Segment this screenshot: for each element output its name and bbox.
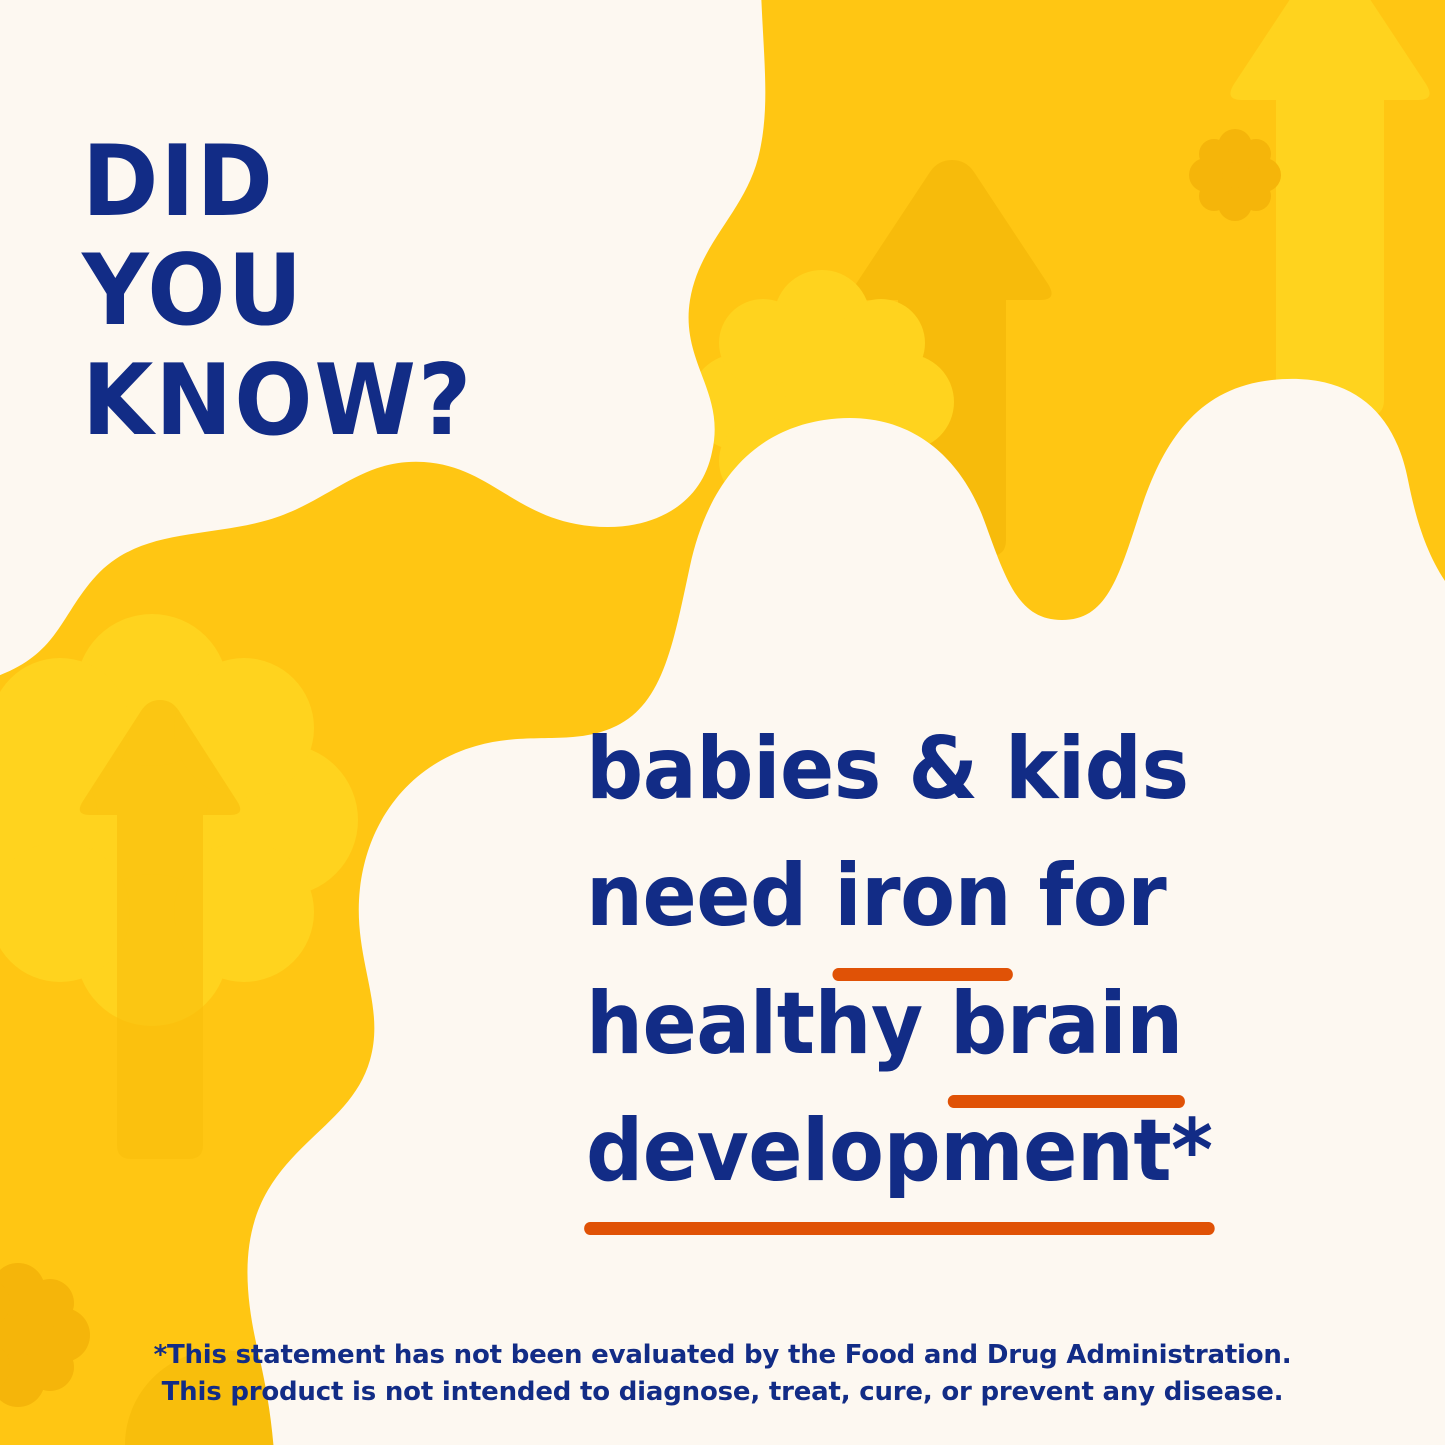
disclaimer-line-1: *This statement has not been evaluated b… [0,1337,1445,1374]
message-line-4: development* [586,1088,1330,1215]
message-line-2-prefix: need [586,846,834,946]
message-line-2: need iron for [586,833,1330,960]
message-line-2-suffix: for [1011,846,1166,946]
main-message: babies & kids need iron for healthy brai… [586,706,1330,1215]
message-line-1-text: babies & kids [586,719,1189,819]
message-line-1: babies & kids [586,706,1330,833]
highlight-development: development* [586,1088,1213,1215]
message-line-3-prefix: healthy [586,974,950,1074]
disclaimer: *This statement has not been evaluated b… [0,1337,1445,1411]
poster-canvas: DID YOU KNOW? babies & kids need iron fo… [0,0,1445,1445]
message-line-3: healthy brain [586,961,1330,1088]
highlight-brain: brain [950,961,1183,1088]
highlight-iron: iron [834,833,1011,960]
disclaimer-line-2: This product is not intended to diagnose… [0,1374,1445,1411]
page-title: DID YOU KNOW? [82,128,571,457]
